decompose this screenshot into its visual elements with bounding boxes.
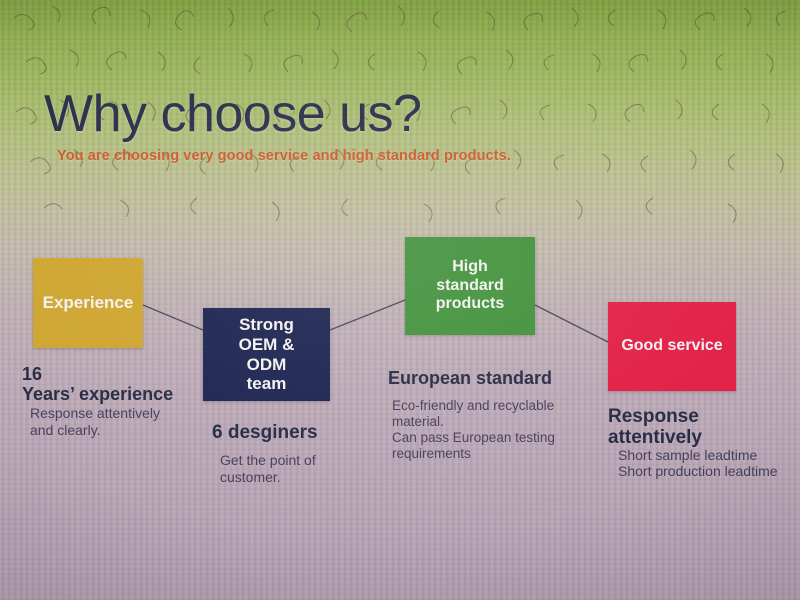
caption-response-body-line2: Short production leadtime: [618, 463, 778, 480]
caption-designers-body-line2: customer.: [220, 469, 318, 486]
caption-response-body-line1: Short sample leadtime: [618, 447, 778, 464]
page-subtitle: You are choosing very good service and h…: [57, 148, 511, 164]
caption-designers-heading: 6 desginers: [212, 422, 318, 443]
page-title: Why choose us?: [44, 84, 421, 144]
box-high-label-line1: High: [436, 258, 504, 277]
box-experience[interactable]: Experience: [33, 258, 143, 348]
box-high-standard-products[interactable]: High standard products: [405, 237, 535, 335]
caption-response-heading-line1: Response: [608, 406, 778, 427]
box-high-label-line2: standard: [436, 277, 504, 296]
box-high-label-line3: products: [436, 295, 504, 314]
caption-response-attentively: Response attentively Short sample leadti…: [608, 406, 778, 480]
caption-experience: 16 Years’ experience Response attentivel…: [22, 364, 173, 438]
box-oem-label-line2: OEM &: [239, 335, 295, 355]
caption-response-heading-line2: attentively: [608, 427, 778, 448]
caption-european-heading: European standard: [388, 368, 555, 388]
box-oem-label-line4: team: [239, 374, 295, 394]
box-good-service[interactable]: Good service: [608, 302, 736, 391]
caption-designers: 6 desginers Get the point of customer.: [212, 422, 318, 485]
caption-experience-heading-line1: 16: [22, 364, 173, 384]
box-good-service-label: Good service: [621, 337, 722, 356]
caption-european-body-line2: material.: [392, 414, 555, 430]
box-strong-oem-odm-team[interactable]: Strong OEM & ODM team: [203, 308, 330, 401]
box-oem-label-line1: Strong: [239, 315, 295, 335]
caption-european-body-line3: Can pass European testing: [392, 430, 555, 446]
caption-designers-body-line1: Get the point of: [220, 452, 318, 469]
caption-european-body-line1: Eco-friendly and recyclable: [392, 398, 555, 414]
caption-european-standard: European standard Eco-friendly and recyc…: [388, 368, 555, 462]
box-experience-label: Experience: [43, 293, 134, 313]
caption-experience-body-line2: and clearly.: [30, 422, 173, 439]
caption-experience-body-line1: Response attentively: [30, 405, 173, 422]
caption-experience-heading-line2: Years’ experience: [22, 384, 173, 404]
presentation-slide: Why choose us? You are choosing very goo…: [0, 0, 800, 600]
box-oem-label-line3: ODM: [239, 355, 295, 375]
caption-european-body-line4: requirements: [392, 446, 555, 462]
